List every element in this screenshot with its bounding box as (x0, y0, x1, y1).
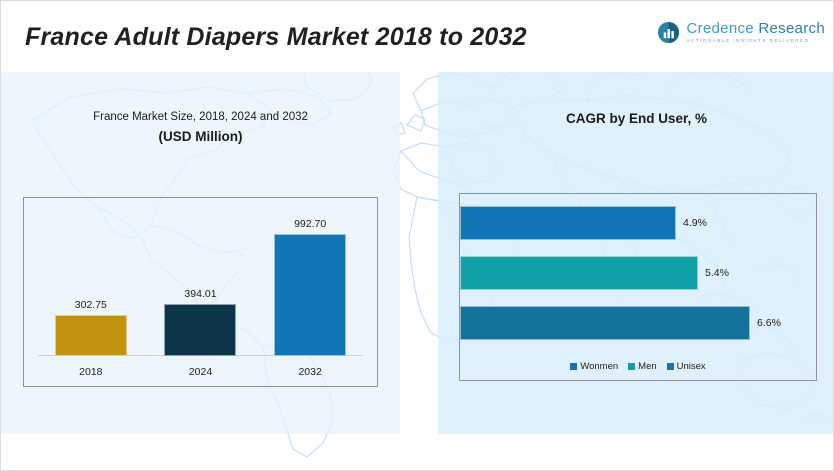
left-chart-bars: 302.75 2018 394.01 2024 992.70 2032 (24, 198, 377, 386)
right-chart-title: CAGR by End User, % (438, 111, 834, 126)
legend-item-unisex: Unisex (667, 361, 706, 372)
logo-name-part2: Research (758, 20, 825, 37)
bar-value-label: 5.4% (705, 267, 729, 279)
bar-chart-circle-icon (657, 21, 680, 44)
bar-2032 (274, 234, 346, 356)
brand-logo: Credence Research Actionable Insights De… (657, 21, 825, 44)
bar-wonmen (460, 206, 676, 240)
bar-2018 (55, 315, 127, 356)
right-chart-bars: 4.9% 5.4% 6.6% Wonmen Men (460, 194, 816, 380)
legend-swatch-icon (628, 363, 635, 370)
bar-category-label: 2024 (189, 366, 212, 378)
legend-label: Men (638, 361, 656, 372)
legend-label: Wonmen (580, 361, 618, 372)
bar-group-2024: 394.01 2024 (164, 198, 236, 356)
bar-value-label: 394.01 (184, 288, 216, 300)
bar-value-label: 992.70 (294, 218, 326, 230)
bar-category-label: 2018 (79, 366, 102, 378)
hbar-group-men: 5.4% (460, 256, 816, 290)
right-chart-legend: Wonmen Men Unisex (460, 361, 816, 372)
left-chart-subtitle: France Market Size, 2018, 2024 and 2032 (1, 111, 400, 123)
legend-label: Unisex (677, 361, 706, 372)
logo-name-part1: Credence (686, 20, 753, 37)
legend-item-men: Men (628, 361, 656, 372)
bar-value-label: 6.6% (757, 317, 781, 329)
bar-men (460, 256, 698, 290)
left-chart-unit: (USD Million) (1, 129, 400, 144)
left-chart-plot-area: 302.75 2018 394.01 2024 992.70 2032 (23, 197, 378, 387)
page-title: France Adult Diapers Market 2018 to 2032 (25, 23, 527, 52)
hbar-group-unisex: 6.6% (460, 306, 816, 340)
right-chart-plot-area: 4.9% 5.4% 6.6% Wonmen Men (459, 193, 817, 381)
legend-swatch-icon (667, 363, 674, 370)
header-bar: France Adult Diapers Market 2018 to 2032… (1, 1, 834, 72)
bar-group-2018: 302.75 2018 (55, 198, 127, 356)
bar-group-2032: 992.70 2032 (274, 198, 346, 356)
infographic-root: France Adult Diapers Market 2018 to 2032… (0, 0, 834, 471)
bar-value-label: 302.75 (75, 299, 107, 311)
legend-item-wonmen: Wonmen (570, 361, 618, 372)
hbar-group-wonmen: 4.9% (460, 206, 816, 240)
bar-unisex (460, 306, 750, 340)
bar-2024 (164, 304, 236, 356)
legend-swatch-icon (570, 363, 577, 370)
bar-value-label: 4.9% (683, 217, 707, 229)
bar-category-label: 2032 (298, 366, 321, 378)
logo-tagline: Actionable Insights Delivered (686, 39, 825, 44)
